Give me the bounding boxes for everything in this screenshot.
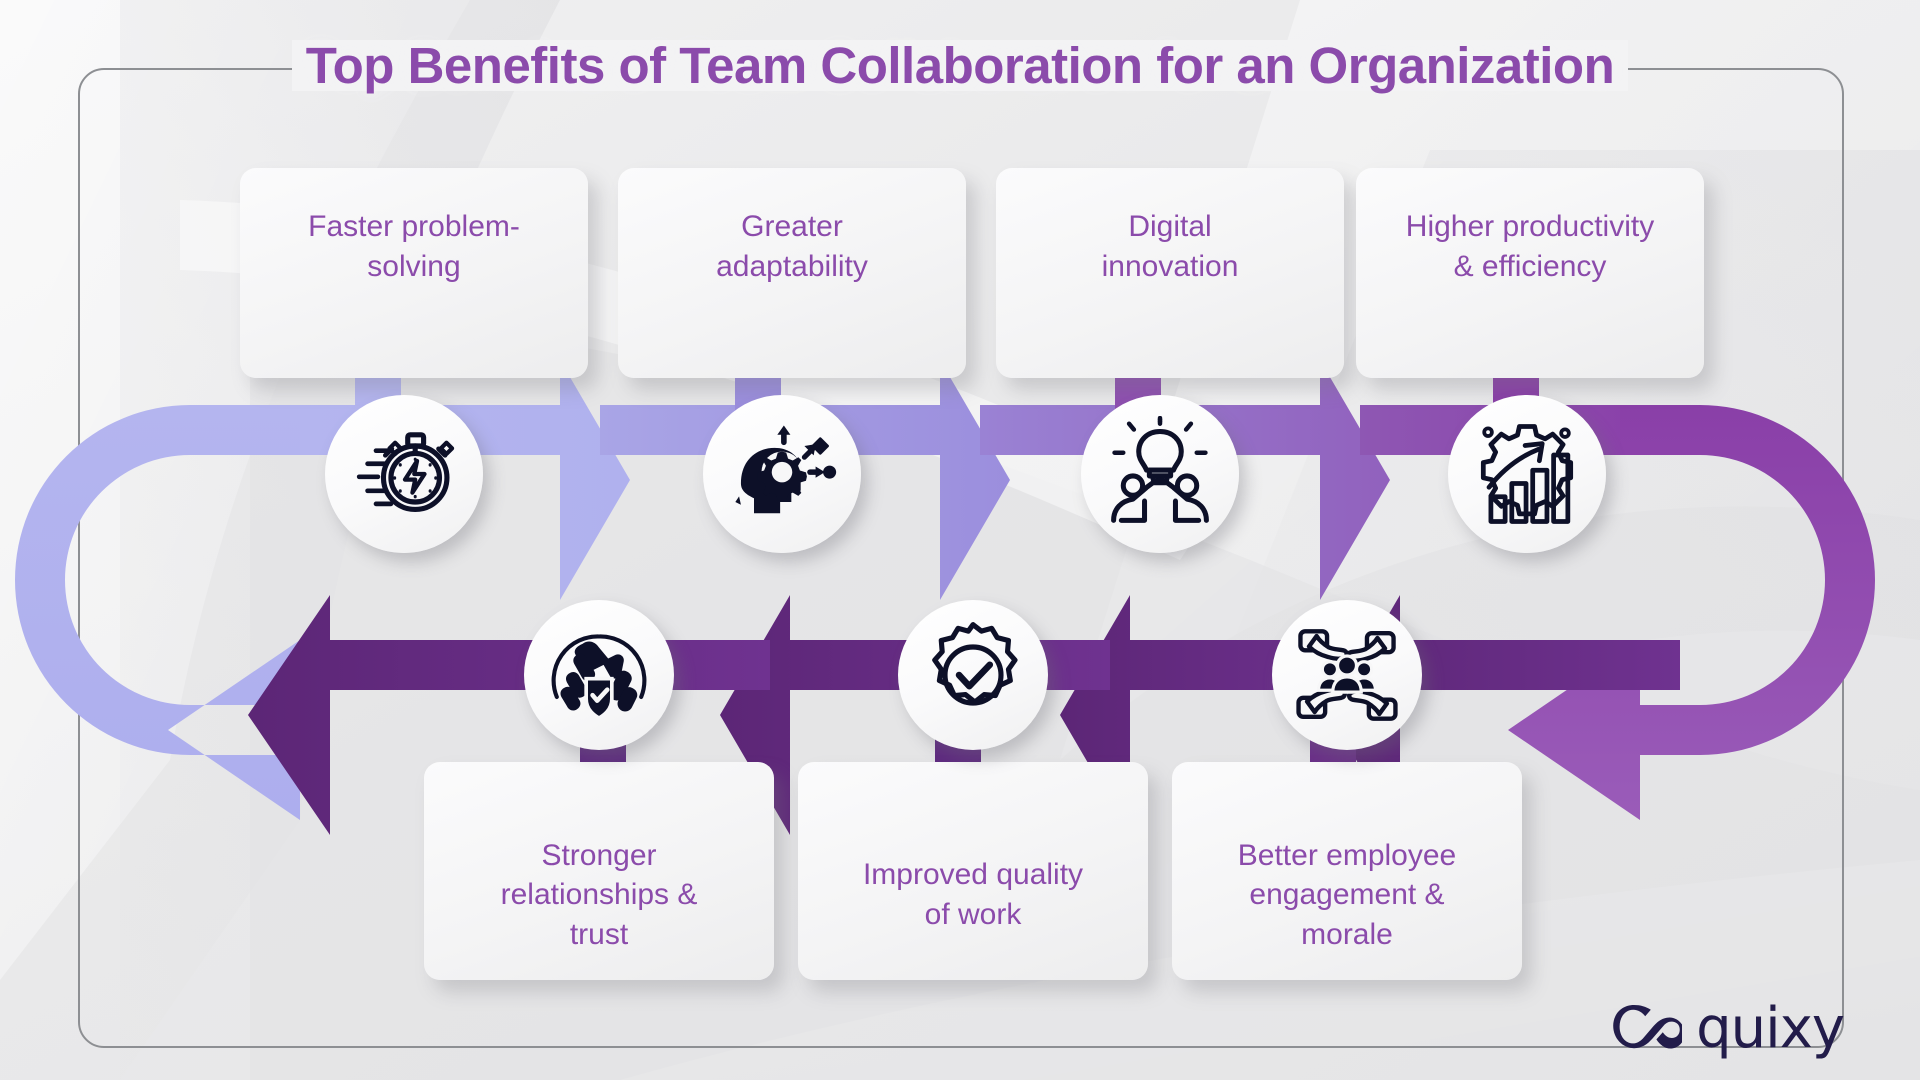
hands-people-care-icon	[1290, 618, 1404, 732]
handshake-shield-icon	[544, 620, 654, 730]
icon-badge-lightbulb-team[interactable]	[1081, 395, 1239, 553]
benefit-label: Digitalinnovation	[1088, 207, 1253, 338]
gear-bar-chart-icon	[1470, 417, 1584, 531]
lightbulb-teamwork-icon	[1102, 416, 1218, 532]
icon-badge-handshake-shield[interactable]	[524, 600, 674, 750]
icon-badge-gear-chart[interactable]	[1448, 395, 1606, 553]
brand-logo[interactable]: quixy	[1610, 1000, 1844, 1058]
benefit-label: Strongerrelationships &trust	[487, 788, 712, 955]
brand-name: quixy	[1696, 1001, 1844, 1057]
page-title: Top Benefits of Team Collaboration for a…	[292, 40, 1629, 91]
benefit-label: Greateradaptability	[702, 207, 882, 338]
benefit-card-higher-productivity[interactable]: Higher productivity& efficiency	[1356, 168, 1704, 378]
benefit-card-faster-problem-solving[interactable]: Faster problem-solving	[240, 168, 588, 378]
icon-badge-quality-check[interactable]	[898, 600, 1048, 750]
head-gear-arrows-icon	[726, 418, 838, 530]
benefit-label: Higher productivity& efficiency	[1392, 207, 1668, 338]
benefit-card-digital-innovation[interactable]: Digitalinnovation	[996, 168, 1344, 378]
quixy-knot-icon	[1610, 1000, 1682, 1058]
benefit-label: Faster problem-solving	[294, 207, 534, 338]
benefit-label: Improved qualityof work	[849, 807, 1097, 934]
stopwatch-bolt-icon	[348, 418, 460, 530]
page-title-wrap: Top Benefits of Team Collaboration for a…	[0, 26, 1920, 104]
benefit-card-greater-adaptability[interactable]: Greateradaptability	[618, 168, 966, 378]
icon-badge-head-gear[interactable]	[703, 395, 861, 553]
quality-badge-check-icon	[917, 619, 1029, 731]
icon-badge-stopwatch[interactable]	[325, 395, 483, 553]
benefit-card-stronger-relationships[interactable]: Strongerrelationships &trust	[424, 762, 774, 980]
benefit-card-better-engagement[interactable]: Better employeeengagement &morale	[1172, 762, 1522, 980]
icon-badge-hands-people[interactable]	[1272, 600, 1422, 750]
benefit-label: Better employeeengagement &morale	[1224, 788, 1470, 955]
benefit-card-improved-quality[interactable]: Improved qualityof work	[798, 762, 1148, 980]
